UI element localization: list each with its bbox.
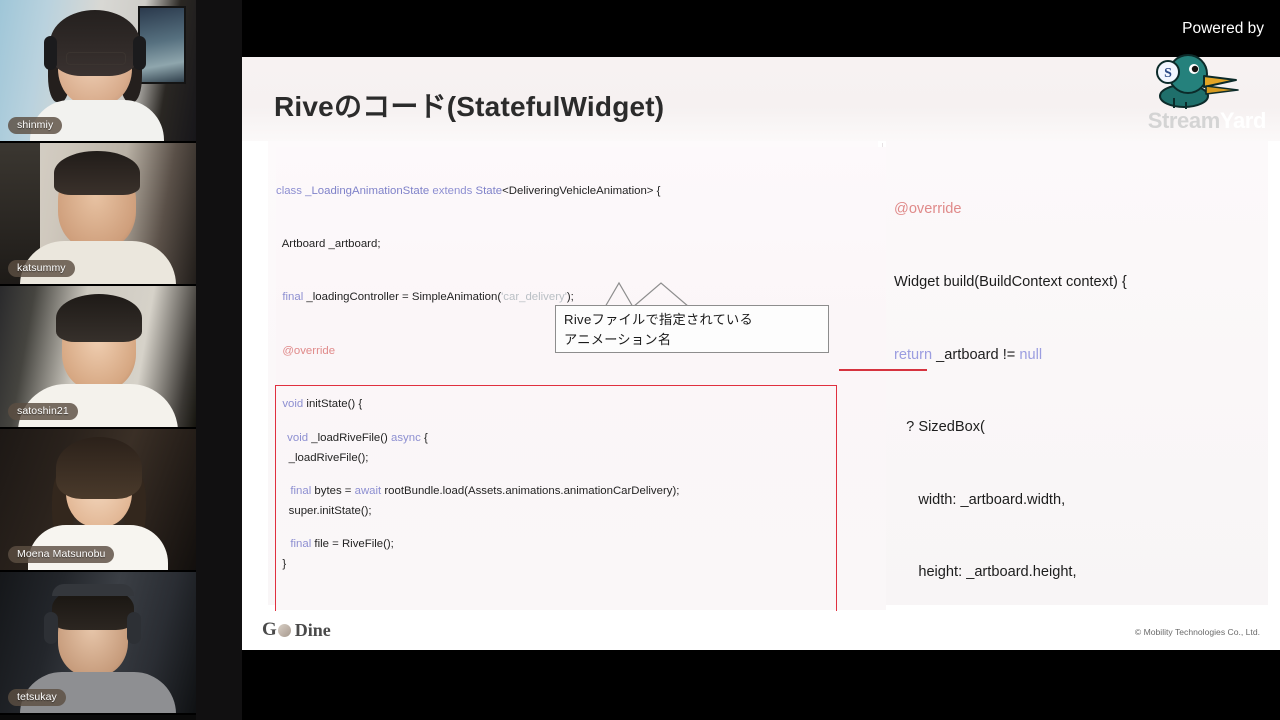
wordmark-stream: Stream (1148, 108, 1220, 133)
streamyard-badge: Powered by S StreamYard (1130, 8, 1270, 136)
presentation-slide: Riveのコード(StatefulWidget) class _LoadingA… (242, 57, 1280, 650)
participant-tile[interactable]: shinmiy (0, 0, 196, 143)
person-hair (54, 151, 140, 195)
code-line: width: _artboard.width, (894, 488, 1127, 512)
person-hair (56, 437, 142, 499)
code-line: height: _artboard.height, (894, 560, 1127, 584)
participant-tile[interactable]: tetsukay (0, 572, 196, 715)
participant-name-badge: tetsukay (8, 689, 66, 706)
slide-body: class _LoadingAnimationState extends Sta… (242, 141, 1280, 611)
go-dine-logo: G Dine (262, 619, 331, 641)
logo-word-dine: Dine (295, 620, 331, 641)
letterbox-bottom (242, 650, 1280, 720)
code-line: ? SizedBox( (894, 415, 1127, 439)
code-line: Widget build(BuildContext context) { (894, 270, 1127, 294)
callout-line-1: Riveファイルで指定されている (564, 310, 828, 330)
slide-header: Riveのコード(StatefulWidget) (242, 57, 1280, 141)
headphone-right (133, 36, 146, 70)
participant-name-badge: Moena Matsunobu (8, 546, 114, 563)
participant-tile[interactable]: Moena Matsunobu (0, 429, 196, 572)
duck-logo-icon: S (1146, 50, 1242, 110)
logo-letter-g: G (262, 619, 277, 641)
logo-dot-icon (278, 624, 291, 637)
code-line: return _artboard != null (894, 343, 1127, 367)
code-block-right: @override Widget build(BuildContext cont… (894, 149, 1127, 650)
participant-video-column: shinmiy katsummy satoshin21 (0, 0, 196, 720)
headphone-left (44, 36, 57, 70)
person-hair (56, 294, 142, 342)
code-line: @override (894, 197, 1127, 221)
slide-footer: G Dine © Mobility Technologies Co., Ltd. (242, 611, 1280, 650)
participant-tile[interactable]: katsummy (0, 143, 196, 286)
streamyard-wordmark: StreamYard (1148, 108, 1266, 134)
callout-annotation: Riveファイルで指定されている アニメーション名 (555, 305, 829, 353)
shared-screen-area[interactable]: Riveのコード(StatefulWidget) class _LoadingA… (242, 0, 1280, 720)
slide-title: Riveのコード(StatefulWidget) (274, 85, 664, 125)
letterbox-top (242, 0, 1280, 57)
code-line: Artboard _artboard; (276, 236, 886, 254)
powered-by-label: Powered by (1182, 20, 1264, 38)
headphone-band (52, 584, 134, 596)
callout-leader-lines (555, 281, 829, 307)
person-hair (50, 10, 140, 76)
duck-badge-letter: S (1164, 66, 1172, 81)
headphone-left (44, 612, 58, 644)
glasses (66, 52, 126, 65)
participant-name-badge: shinmiy (8, 117, 62, 134)
participant-name-badge: katsummy (8, 260, 75, 277)
copyright-text: © Mobility Technologies Co., Ltd. (1135, 627, 1260, 637)
headphone-right (127, 612, 141, 644)
stream-view: shinmiy katsummy satoshin21 (0, 0, 1280, 720)
code-line: class _LoadingAnimationState extends Sta… (276, 183, 886, 201)
wordmark-yard: Yard (1220, 108, 1266, 133)
participant-tile[interactable]: satoshin21 (0, 286, 196, 429)
participant-name-badge: satoshin21 (8, 403, 78, 420)
callout-line-2: アニメーション名 (564, 330, 828, 350)
